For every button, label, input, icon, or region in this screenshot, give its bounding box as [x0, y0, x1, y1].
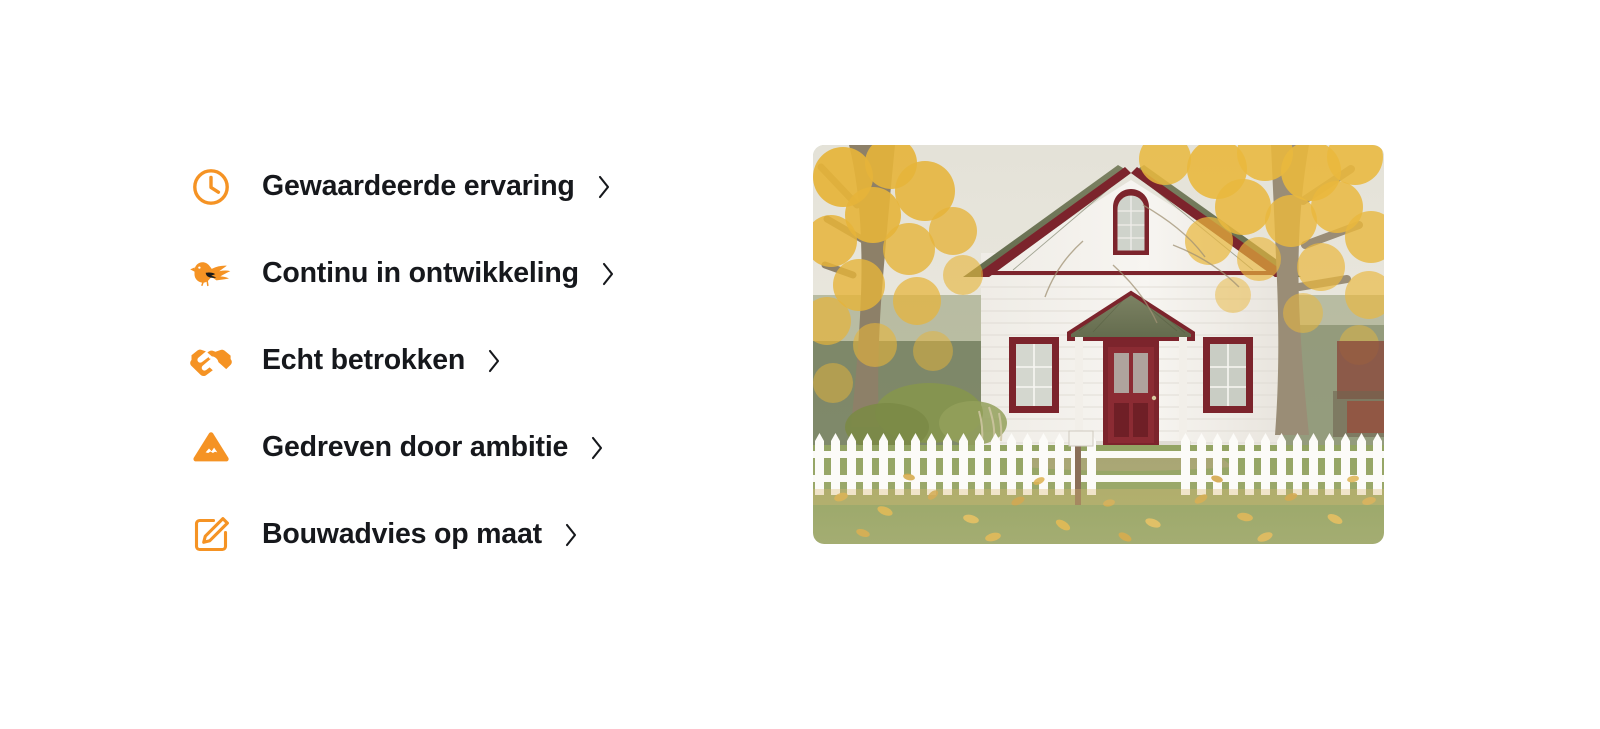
feature-label: Gewaardeerde ervaring — [262, 172, 575, 201]
handshake-icon — [188, 338, 234, 384]
feature-row-continu-in-ontwikkeling[interactable]: Continu in ontwikkeling — [188, 230, 708, 317]
feature-row-bouwadvies-op-maat[interactable]: Bouwadvies op maat — [188, 491, 708, 578]
clock-icon — [188, 164, 234, 210]
chevron-right-icon[interactable] — [597, 175, 611, 199]
feature-label: Echt betrokken — [262, 346, 465, 375]
house-photo — [813, 145, 1384, 544]
mountain-icon — [188, 425, 234, 471]
feature-label: Continu in ontwikkeling — [262, 259, 579, 288]
chevron-right-icon[interactable] — [487, 349, 501, 373]
chevron-right-icon[interactable] — [564, 523, 578, 547]
feature-label: Gedreven door ambitie — [262, 433, 568, 462]
feature-label: Bouwadvies op maat — [262, 520, 542, 549]
chevron-right-icon[interactable] — [601, 262, 615, 286]
feature-row-echt-betrokken[interactable]: Echt betrokken — [188, 317, 708, 404]
page-root: Gewaardeerde ervaring — [0, 0, 1600, 729]
feature-row-gedreven-door-ambitie[interactable]: Gedreven door ambitie — [188, 404, 708, 491]
chevron-right-icon[interactable] — [590, 436, 604, 460]
feature-list: Gewaardeerde ervaring — [188, 143, 708, 578]
bird-icon — [188, 251, 234, 297]
feature-row-gewaardeerde-ervaring[interactable]: Gewaardeerde ervaring — [188, 143, 708, 230]
edit-icon — [188, 512, 234, 558]
